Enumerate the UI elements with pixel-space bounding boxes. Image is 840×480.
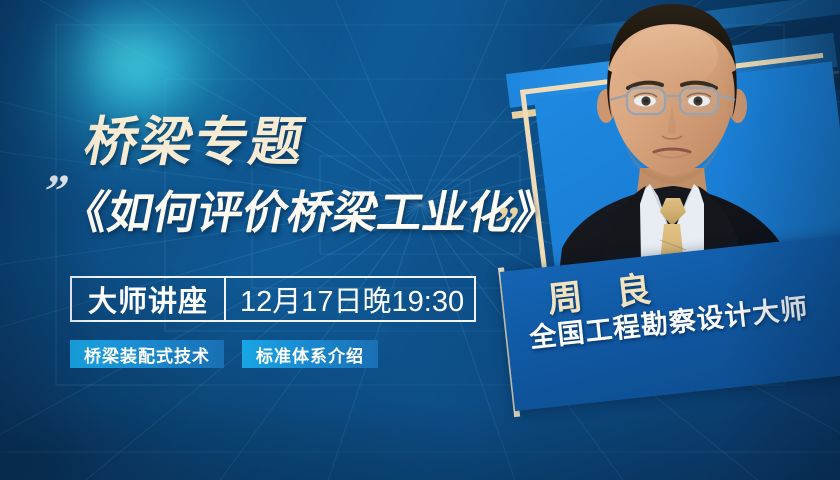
lecture-datetime: 12月17日晚19:30 bbox=[226, 278, 474, 320]
topic-tag: 桥梁装配式技术 bbox=[70, 340, 224, 368]
topic-tag-list: 桥梁装配式技术 标准体系介绍 bbox=[70, 340, 378, 368]
promo-banner: 周 良 全国工程勘察设计大师 桥梁专题 ” 《如何评价桥梁工业化》 ” 大师讲座… bbox=[0, 0, 840, 480]
topic-tag: 标准体系介绍 bbox=[242, 340, 378, 368]
page-title: 桥梁专题 bbox=[79, 100, 314, 176]
lecture-label: 大师讲座 bbox=[72, 278, 224, 320]
page-subtitle: 《如何评价桥梁工业化》 bbox=[58, 176, 566, 241]
lecture-info-box: 大师讲座 12月17日晚19:30 bbox=[70, 276, 476, 322]
